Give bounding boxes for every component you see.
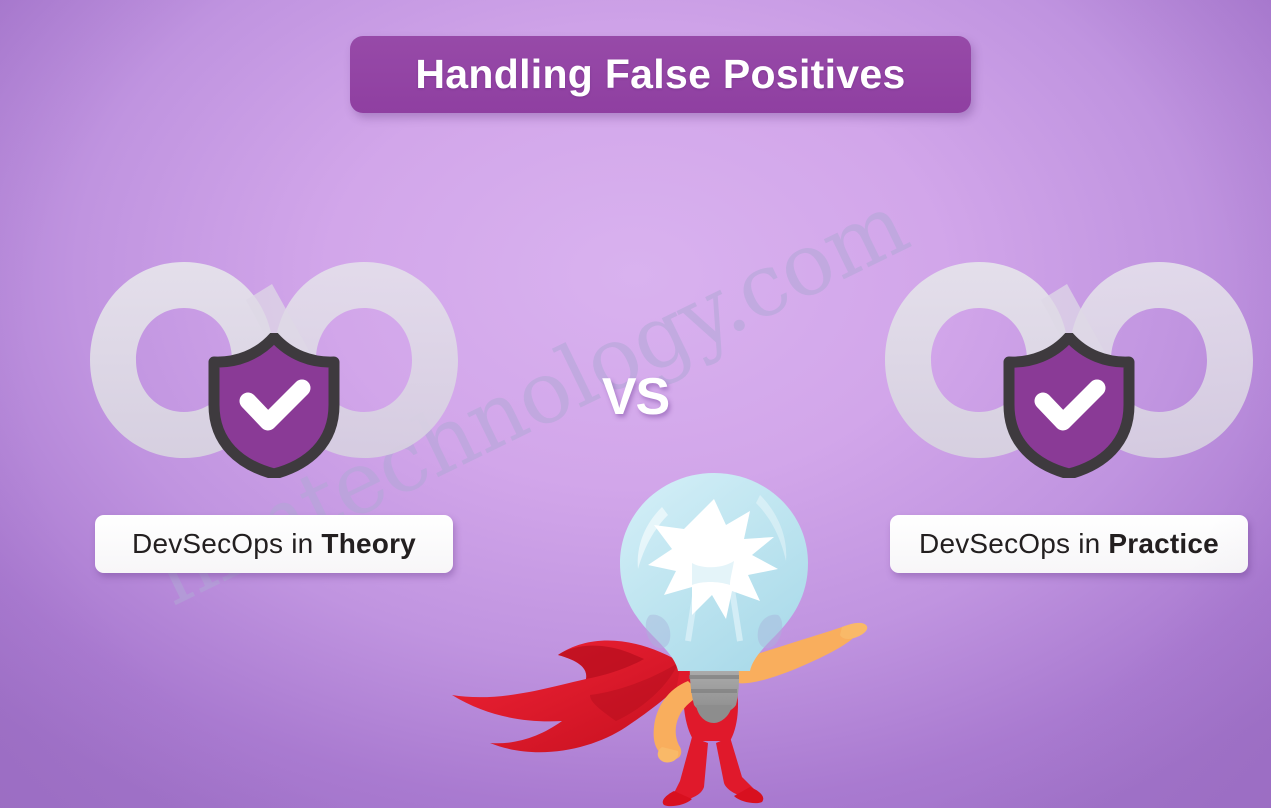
title-banner: Handling False Positives [350,36,971,113]
bulb-head-shape [620,473,808,671]
page-title: Handling False Positives [415,51,905,98]
label-chip-practice: DevSecOps in Practice [890,515,1248,573]
label-emphasis: Practice [1108,528,1219,559]
slide-canvas: nimtechnology.com Handling False Positiv… [0,0,1271,808]
lightbulb-superhero-illustration [430,455,890,808]
label-chip-theory: DevSecOps in Theory [95,515,453,573]
label-chip-theory-text: DevSecOps in Theory [132,528,416,560]
label-prefix: DevSecOps in [919,528,1108,559]
versus-label: VS [0,367,1271,427]
label-chip-practice-text: DevSecOps in Practice [919,528,1219,560]
label-prefix: DevSecOps in [132,528,321,559]
label-emphasis: Theory [321,528,416,559]
